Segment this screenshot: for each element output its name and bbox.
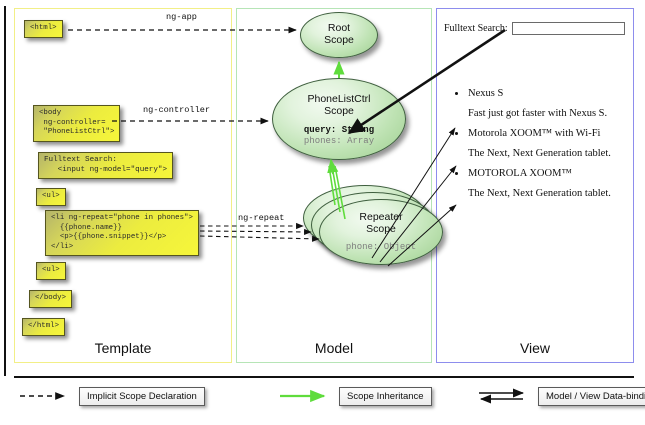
phone-list: Nexus S Fast just got faster with Nexus … [448, 86, 628, 206]
panel-model-caption: Model [237, 340, 431, 356]
code-box-body-close: </body> [29, 290, 72, 308]
code-box-html-close: </html> [22, 318, 65, 336]
list-item-title: Motorola XOOM™ with Wi-Fi [468, 128, 600, 139]
view-search-label: Fulltext Search: [444, 23, 508, 34]
code-box-search-input: Fulltext Search: <input ng-model="query"… [38, 152, 173, 179]
left-edge-rule [4, 6, 6, 376]
list-item: Motorola XOOM™ with Wi-Fi The Next, Next… [448, 126, 628, 161]
dashed-arrow-icon [18, 388, 72, 404]
bullet-icon [455, 92, 458, 95]
edge-label-ng-controller: ng-controller [143, 105, 210, 115]
repeater-scope-prop-phone: phone: Object [320, 242, 442, 253]
code-box-ul-open: <ul> [36, 188, 66, 206]
code-box-body-open: <body ng-controller= "PhoneListCtrl"> [33, 105, 120, 142]
phonelistctrl-scope: PhoneListCtrl Scope query: String phones… [272, 78, 406, 160]
legend-label-implicit-scope-declaration: Implicit Scope Declaration [79, 387, 205, 406]
list-item-title-wrap: Motorola XOOM™ with Wi-Fi [448, 126, 628, 141]
edge-label-ng-app: ng-app [166, 12, 197, 22]
legend-item-model-view-data-binding: Model / View Data-binding [475, 385, 645, 407]
scope-prop-query: query: String [273, 125, 405, 136]
root-scope: Root Scope [300, 12, 378, 58]
list-item-snippet: Fast just got faster with Nexus S. [448, 106, 628, 121]
list-item-snippet: The Next, Next Generation tablet. [448, 186, 628, 201]
legend-label-model-view-data-binding: Model / View Data-binding [538, 387, 645, 406]
code-box-html-open: <html> [24, 20, 63, 38]
repeater-scope-title: Repeater Scope [320, 200, 442, 235]
list-item-title: MOTOROLA XOOM™ [468, 168, 572, 179]
repeater-scope: Repeater Scope phone: Object [319, 199, 443, 265]
panel-template-caption: Template [15, 340, 231, 356]
list-item-snippet: The Next, Next Generation tablet. [448, 146, 628, 161]
list-item-title-wrap: MOTOROLA XOOM™ [448, 166, 628, 181]
scope-prop-phones: phones: Array [273, 136, 405, 147]
list-item: Nexus S Fast just got faster with Nexus … [448, 86, 628, 121]
list-item: MOTOROLA XOOM™ The Next, Next Generation… [448, 166, 628, 201]
code-box-ul-close: <ul> [36, 262, 66, 280]
green-arrow-icon [278, 388, 332, 404]
legend-item-scope-inheritance: Scope Inheritance [278, 385, 432, 407]
panel-model: Model [236, 8, 432, 363]
panel-template: Template [14, 8, 232, 363]
diagram-canvas: Template Model View <html> <body ng-cont… [0, 0, 645, 425]
legend-label-scope-inheritance: Scope Inheritance [339, 387, 432, 406]
code-box-li-repeat: <li ng-repeat="phone in phones"> {{phone… [45, 210, 199, 256]
edge-label-ng-repeat: ng-repeat [238, 213, 284, 223]
bullet-icon [455, 132, 458, 135]
list-item-title: Nexus S [468, 88, 503, 99]
list-item-title-wrap: Nexus S [448, 86, 628, 101]
root-scope-title: Root Scope [301, 13, 377, 46]
fulltext-search-input[interactable] [512, 22, 625, 35]
legend-item-implicit-scope-declaration: Implicit Scope Declaration [18, 385, 205, 407]
phonelistctrl-scope-title: PhoneListCtrl Scope [273, 79, 405, 117]
view-search-row: Fulltext Search: [444, 22, 625, 35]
view-content: Fulltext Search: Nexus S Fast just got f… [436, 8, 634, 363]
bullet-icon [455, 172, 458, 175]
legend-divider [14, 376, 634, 378]
double-arrow-icon [475, 387, 531, 405]
phonelistctrl-scope-props: query: String phones: Array [273, 125, 405, 147]
